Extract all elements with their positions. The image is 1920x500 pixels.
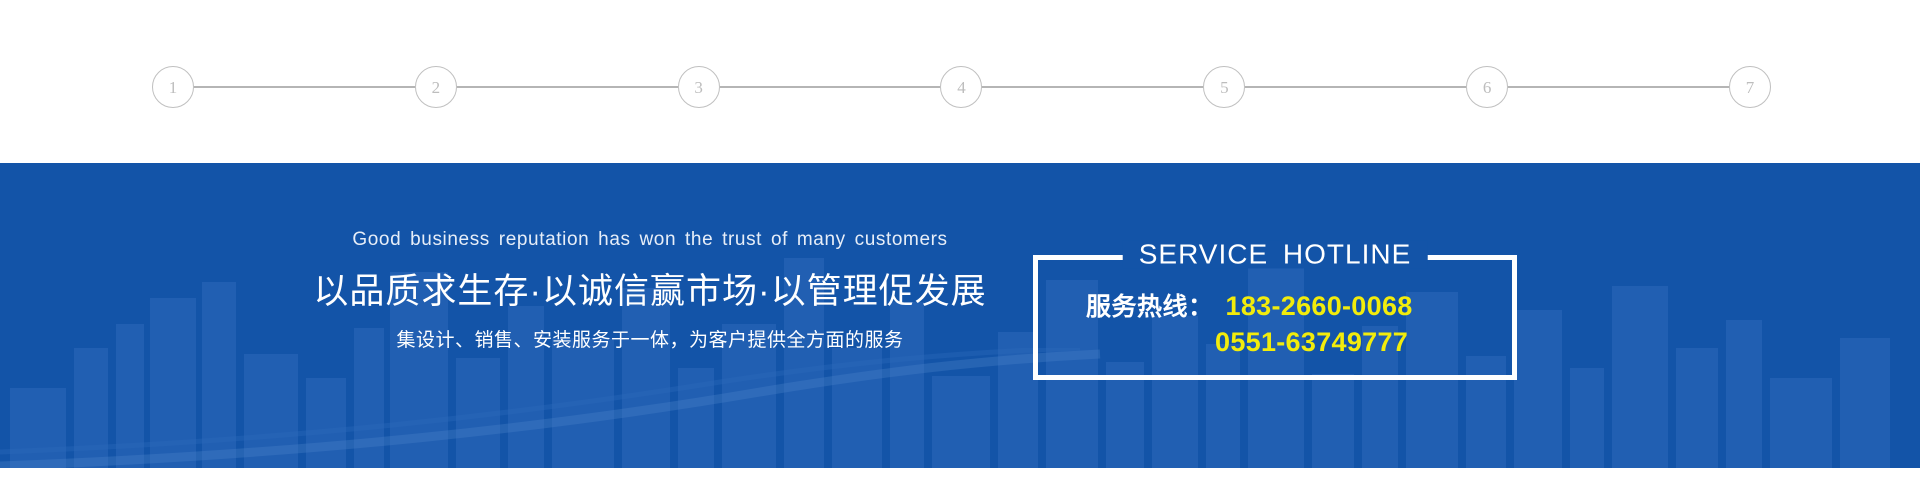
step-node-2[interactable]: 2 (415, 66, 457, 108)
hotline-label: 服务热线： (1086, 291, 1214, 324)
step-node-3[interactable]: 3 (678, 66, 720, 108)
page-footer-spacer (0, 468, 1920, 500)
step-node-1[interactable]: 1 (152, 66, 194, 108)
step-node-5[interactable]: 5 (1203, 66, 1245, 108)
slogan-chinese-headline: 以品质求生存·以诚信赢市场·以管理促发展 (265, 270, 1035, 314)
hotline-number-primary[interactable]: 183-2660-0068 (1226, 289, 1413, 325)
step-label: 2 (432, 79, 441, 96)
service-hotline-box: SERVICE HOTLINE 服务热线： 183-2660-0068 0551… (1033, 255, 1517, 380)
hotline-row-secondary: 0551-63749777 (1086, 325, 1512, 361)
step-connector-3-4 (720, 86, 941, 88)
stepper-track: 1 2 3 4 5 6 7 (152, 86, 1771, 88)
step-node-4[interactable]: 4 (940, 66, 982, 108)
slogan-chinese-subtitle: 集设计、销售、安装服务于一体，为客户提供全方面的服务 (265, 330, 1035, 353)
step-connector-6-7 (1508, 86, 1729, 88)
step-progress-bar: 1 2 3 4 5 6 7 (0, 0, 1920, 163)
hotline-number-secondary[interactable]: 0551-63749777 (1215, 325, 1408, 361)
hotline-rows: 服务热线： 183-2660-0068 0551-63749777 (1038, 260, 1512, 375)
step-label: 7 (1746, 79, 1755, 96)
step-label: 5 (1220, 79, 1229, 96)
step-label: 4 (957, 79, 966, 96)
step-connector-2-3 (457, 86, 678, 88)
step-node-6[interactable]: 6 (1466, 66, 1508, 108)
step-node-7[interactable]: 7 (1729, 66, 1771, 108)
step-connector-4-5 (982, 86, 1203, 88)
page-root: 1 2 3 4 5 6 7 (0, 0, 1920, 500)
slogan-block: Good business reputation has won the tru… (265, 229, 1035, 352)
slogan-english: Good business reputation has won the tru… (265, 229, 1035, 252)
hotline-row-primary: 服务热线： 183-2660-0068 (1086, 289, 1512, 325)
promo-banner: Good business reputation has won the tru… (0, 163, 1920, 468)
step-connector-5-6 (1245, 86, 1466, 88)
step-label: 3 (694, 79, 703, 96)
step-label: 1 (169, 79, 178, 96)
step-label: 6 (1483, 79, 1492, 96)
banner-content: Good business reputation has won the tru… (0, 163, 1920, 468)
step-connector-1-2 (194, 86, 415, 88)
